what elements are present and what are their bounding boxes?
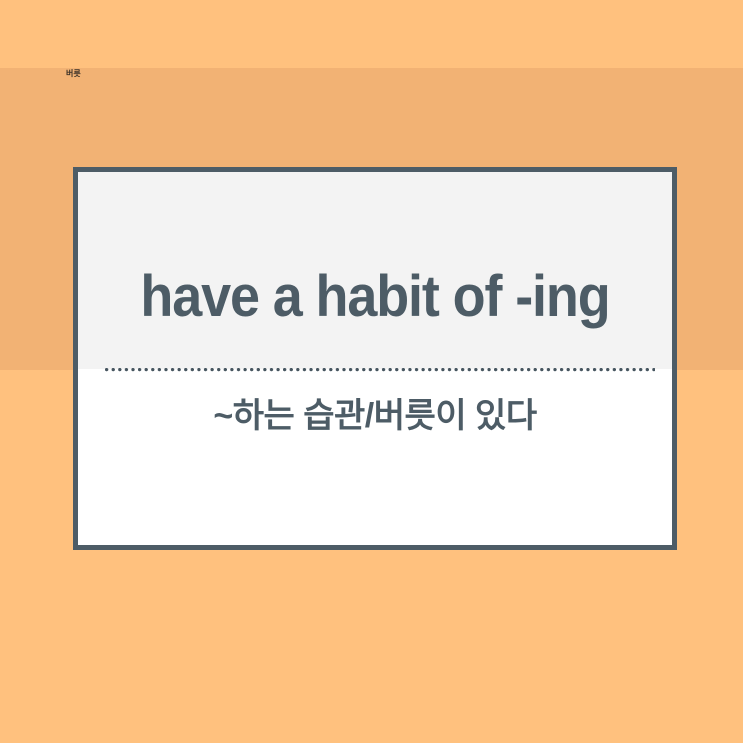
background-band-top: [0, 0, 743, 68]
phrase-card-inner: have a habit of -ing ~하는 습관/버릇이 있다: [78, 172, 672, 545]
dotted-divider: [105, 368, 655, 372]
corner-caption-label: 버릇: [66, 69, 81, 79]
english-phrase-heading: have a habit of -ing: [99, 264, 651, 330]
phrase-card: have a habit of -ing ~하는 습관/버릇이 있다: [73, 167, 677, 550]
slide-canvas: 버릇 have a habit of -ing ~하는 습관/버릇이 있다: [0, 0, 743, 743]
korean-translation-text: ~하는 습관/버릇이 있다: [78, 394, 672, 438]
